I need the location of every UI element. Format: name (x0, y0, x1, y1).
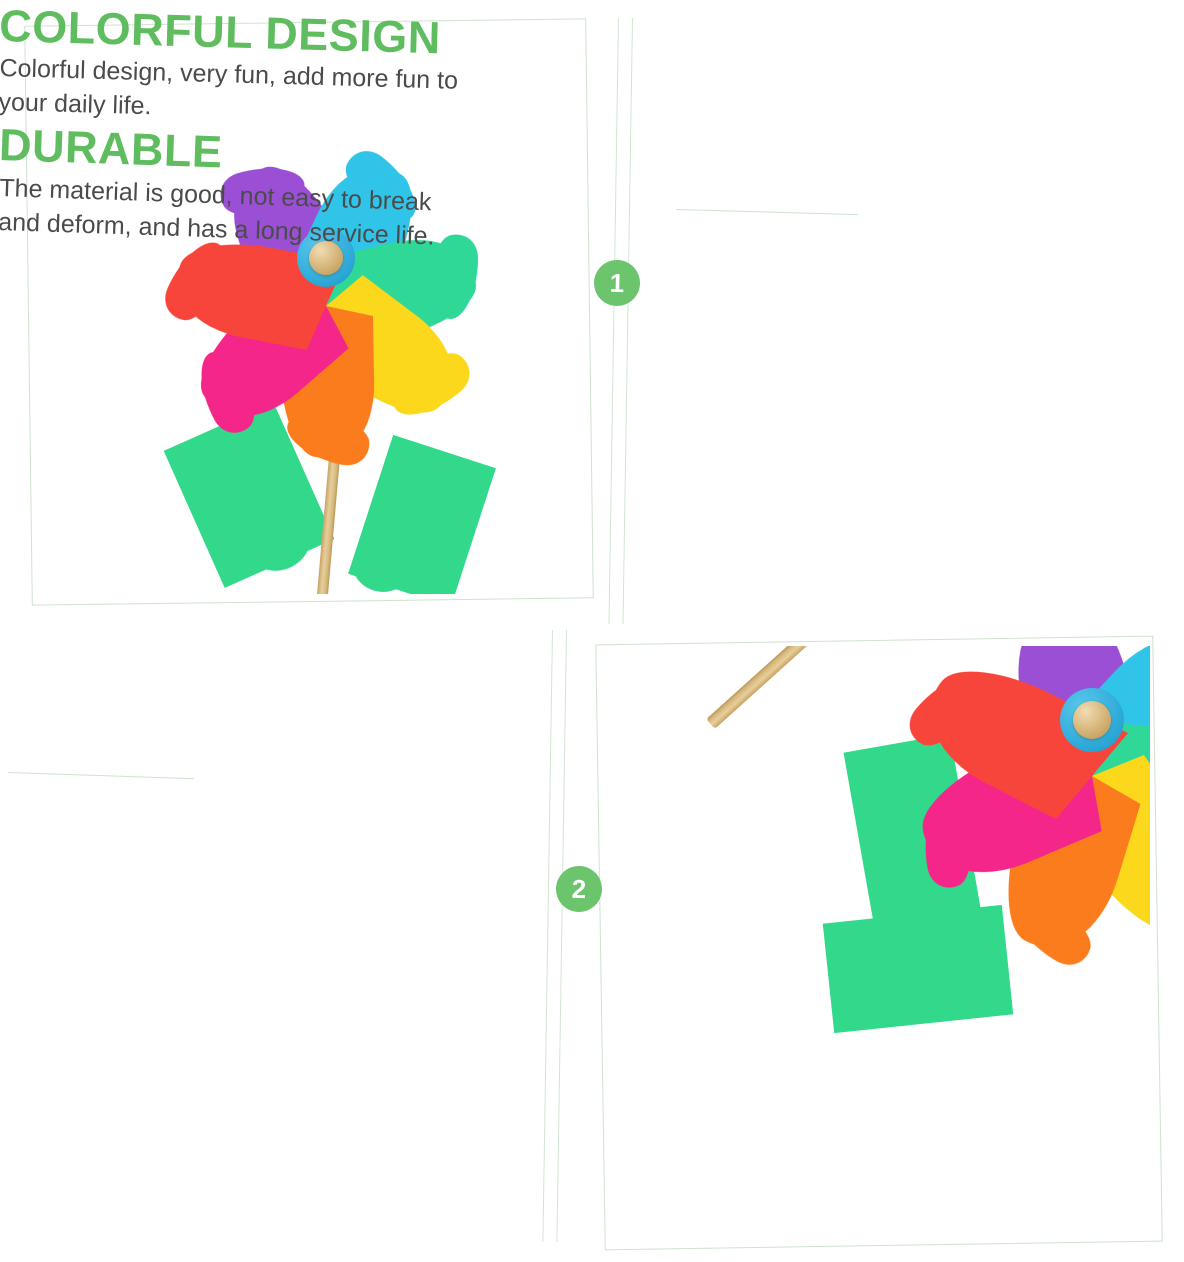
pinwheel-head-closeup (922, 646, 1150, 890)
feature-badge-2: 2 (555, 865, 602, 912)
guide-line-vertical-left-bottom (542, 630, 553, 1242)
leaf-lower-icon (823, 905, 1014, 1033)
divider-rule-1 (676, 209, 858, 215)
divider-rule-2 (8, 772, 194, 780)
guide-line-vertical-left-top (608, 18, 619, 624)
infographic-canvas: 1 COLORFUL DESIGN Colorful design, very … (0, 0, 1184, 1262)
guide-line-vertical-right-top (622, 18, 633, 624)
product-photo-2 (606, 646, 1150, 1238)
pinwheel-center-bead-closeup (1073, 701, 1111, 739)
feature-badge-1: 1 (593, 259, 640, 306)
leaf-right-icon (348, 435, 496, 594)
guide-line-vertical-right-bottom (556, 630, 567, 1242)
